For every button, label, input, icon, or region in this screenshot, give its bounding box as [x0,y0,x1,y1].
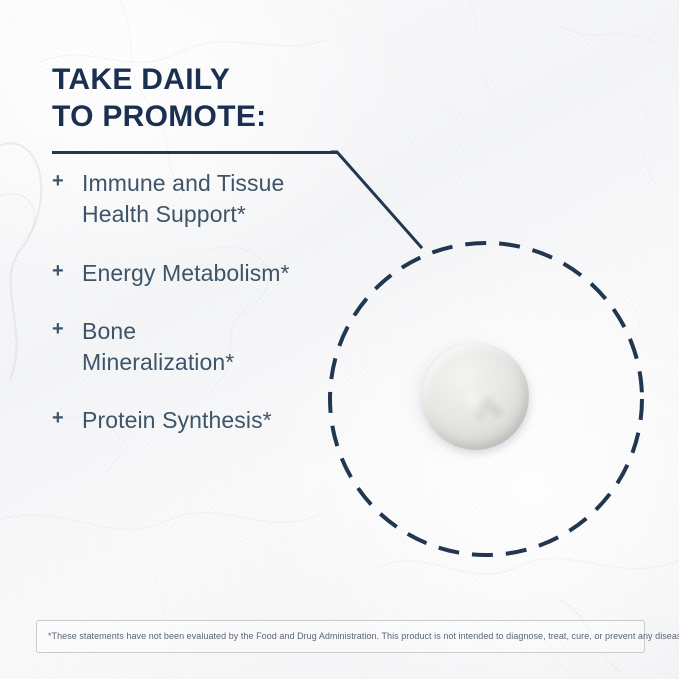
tablet-pill [422,343,529,450]
product-tablet [418,338,536,456]
plus-icon: + [52,258,82,286]
plus-icon: + [52,405,82,433]
disclaimer-box: *These statements have not been evaluate… [36,620,645,653]
infographic-panel: Take Daily To Promote: + Immune and Tiss… [0,0,679,679]
benefit-label: Immune and Tissue Health Support* [82,168,382,231]
plus-icon: + [52,316,82,344]
plus-icon: + [52,168,82,196]
tablet-texture [422,343,529,450]
disclaimer-text: *These statements have not been evaluate… [37,631,679,642]
page-title: Take Daily To Promote: [52,62,392,135]
list-item: + Immune and Tissue Health Support* [52,168,382,231]
headline-divider [52,151,337,154]
